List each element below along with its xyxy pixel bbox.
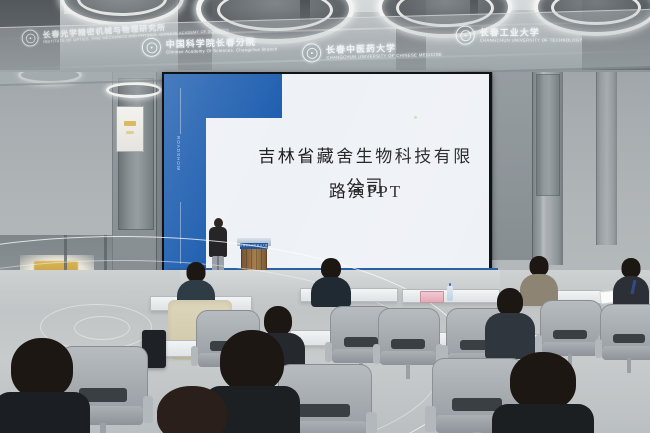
- audience-member-foreground: [492, 352, 594, 433]
- slide-subtitle: 路演PPT: [250, 178, 481, 206]
- audience-torso: [492, 404, 594, 433]
- banner-cn-text: 长春工业大学: [480, 27, 583, 37]
- banner-ccut: 长春工业大学 CHANGCHUN UNIVERSITY OF TECHNOLOG…: [456, 25, 583, 44]
- audience-member-foreground: [0, 338, 90, 433]
- audience-member: [484, 288, 536, 362]
- elevator-door: [118, 78, 154, 230]
- audience-head: [11, 338, 73, 398]
- audience-head: [187, 262, 206, 282]
- floor-inlay-arc: [74, 316, 130, 340]
- screenshot-root: 长春光学精密机械与物理研究所 INSTITUTE OF OPTICS, FINE…: [0, 0, 650, 433]
- banner-cucm: 长春中医药大学 CHANGCHUN UNIVERSITY OF CHINESE …: [302, 40, 442, 63]
- audience-member: [310, 258, 352, 304]
- audience-head: [321, 258, 341, 279]
- banner-en-text: CHANGCHUN UNIVERSITY OF TECHNOLOGY: [480, 37, 583, 43]
- audience-member: [612, 258, 650, 306]
- audience-torso: [0, 392, 90, 433]
- water-bottle: [447, 286, 453, 301]
- pendant-ring-light: [106, 82, 162, 98]
- atom-emblem-icon: [142, 38, 162, 58]
- audience-head: [510, 352, 576, 410]
- audience-head: [157, 386, 227, 433]
- audience-head: [622, 258, 641, 278]
- wall-panel: [492, 60, 534, 260]
- audience-chair[interactable]: [600, 304, 650, 372]
- audience-head: [497, 288, 523, 316]
- banner-cas-changchun: 中国科学院长春分院 Chinese Academy Of Sciences, C…: [142, 34, 278, 57]
- university-seal-icon: [302, 43, 322, 63]
- atom-emblem-icon: [21, 29, 39, 47]
- audience-head: [220, 330, 284, 392]
- audience-torso: [311, 277, 351, 307]
- audience-head: [530, 256, 549, 276]
- audience-member-foreground: [140, 386, 244, 433]
- university-seal-icon: [456, 26, 475, 45]
- name-card: [420, 291, 444, 303]
- column: [596, 60, 617, 245]
- audience-chair[interactable]: [378, 308, 438, 378]
- elevator-door: [536, 74, 560, 196]
- wall-display: [116, 106, 144, 152]
- slide-sidebar-text: ROADSHOW: [176, 136, 181, 171]
